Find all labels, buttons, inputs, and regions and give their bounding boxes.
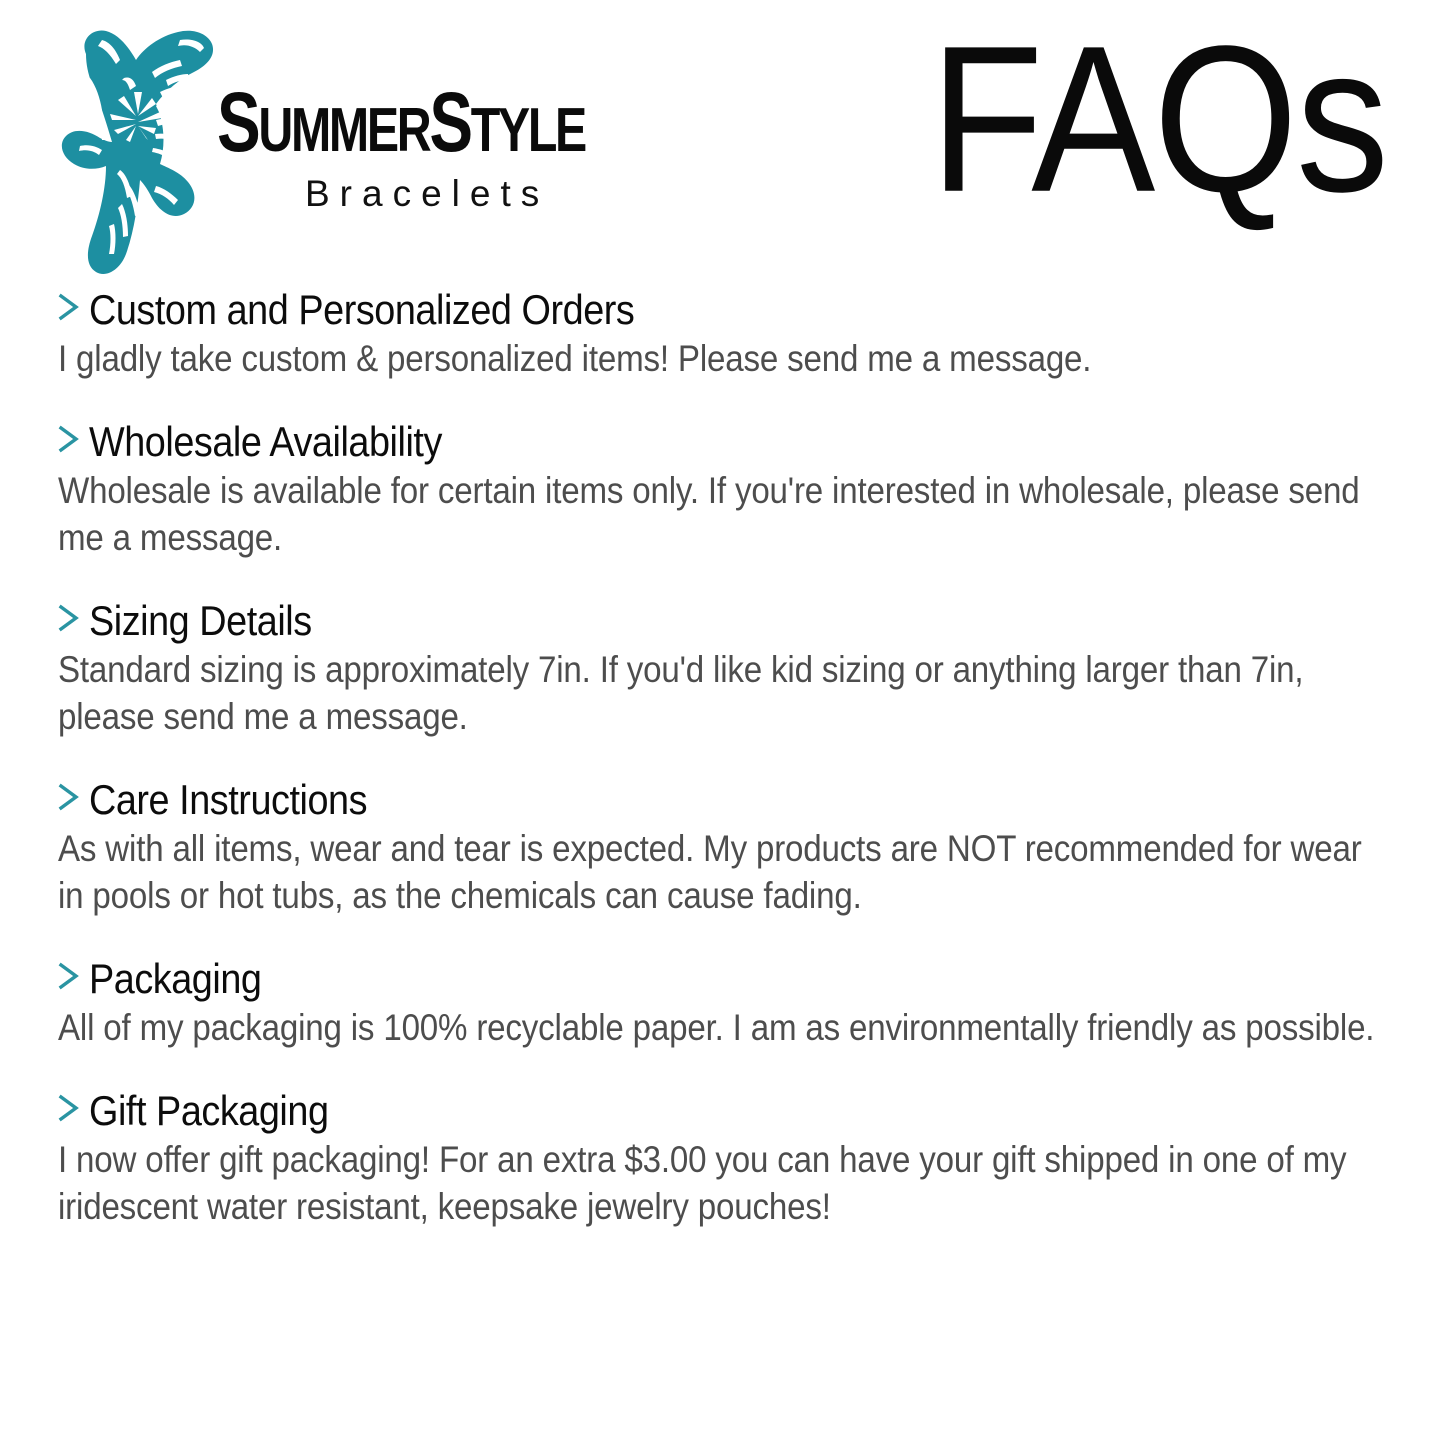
chevron-right-icon	[58, 782, 80, 812]
brand-name-ummer: UMMER	[258, 96, 429, 165]
brand-name-s2: S	[429, 75, 470, 169]
faq-heading-label: Gift Packaging	[89, 1089, 329, 1133]
faq-heading[interactable]: Custom and Personalized Orders	[58, 288, 1387, 332]
brand-wordmark: SUMMERSTYLE Bracelets	[217, 18, 689, 215]
chevron-right-icon	[58, 292, 80, 322]
faq-body-text: All of my packaging is 100% recyclable p…	[58, 1005, 1387, 1052]
chevron-right-icon	[58, 961, 80, 991]
chevron-right-icon	[58, 424, 80, 454]
faq-heading[interactable]: Gift Packaging	[58, 1089, 1387, 1133]
faq-body-text: I now offer gift packaging! For an extra…	[58, 1137, 1387, 1231]
faq-heading[interactable]: Wholesale Availability	[58, 420, 1387, 464]
faq-item: Custom and Personalized Orders I gladly …	[58, 288, 1387, 383]
faq-page: SUMMERSTYLE Bracelets FAQs Custom and Pe…	[0, 0, 1445, 1445]
faq-heading[interactable]: Care Instructions	[58, 778, 1387, 822]
page-title: FAQs	[930, 16, 1387, 224]
faq-item: Wholesale Availability Wholesale is avai…	[58, 420, 1387, 562]
faq-list: Custom and Personalized Orders I gladly …	[0, 288, 1445, 1231]
faq-heading[interactable]: Sizing Details	[58, 599, 1387, 643]
faq-item: Sizing Details Standard sizing is approx…	[58, 599, 1387, 741]
page-header: SUMMERSTYLE Bracelets FAQs	[0, 0, 1445, 288]
faq-heading-label: Custom and Personalized Orders	[89, 288, 634, 332]
faq-heading-label: Wholesale Availability	[89, 420, 442, 464]
chevron-right-icon	[58, 1093, 80, 1123]
starfish-icon	[56, 18, 221, 280]
faq-body-text: As with all items, wear and tear is expe…	[58, 826, 1387, 920]
chevron-right-icon	[58, 603, 80, 633]
faq-heading-label: Packaging	[89, 957, 261, 1001]
brand-name: SUMMERSTYLE	[217, 88, 585, 157]
brand-logo: SUMMERSTYLE Bracelets	[56, 18, 689, 280]
faq-item: Care Instructions As with all items, wea…	[58, 778, 1387, 920]
brand-name-tyle: TYLE	[471, 96, 585, 165]
faq-body-text: I gladly take custom & personalized item…	[58, 336, 1387, 383]
brand-name-s1: S	[217, 75, 258, 169]
faq-body-text: Wholesale is available for certain items…	[58, 468, 1387, 562]
faq-body-text: Standard sizing is approximately 7in. If…	[58, 647, 1387, 741]
faq-heading-label: Sizing Details	[89, 599, 312, 643]
brand-subtitle: Bracelets	[305, 173, 689, 215]
faq-item: Gift Packaging I now offer gift packagin…	[58, 1089, 1387, 1231]
faq-heading-label: Care Instructions	[89, 778, 367, 822]
faq-heading[interactable]: Packaging	[58, 957, 1387, 1001]
faq-item: Packaging All of my packaging is 100% re…	[58, 957, 1387, 1052]
